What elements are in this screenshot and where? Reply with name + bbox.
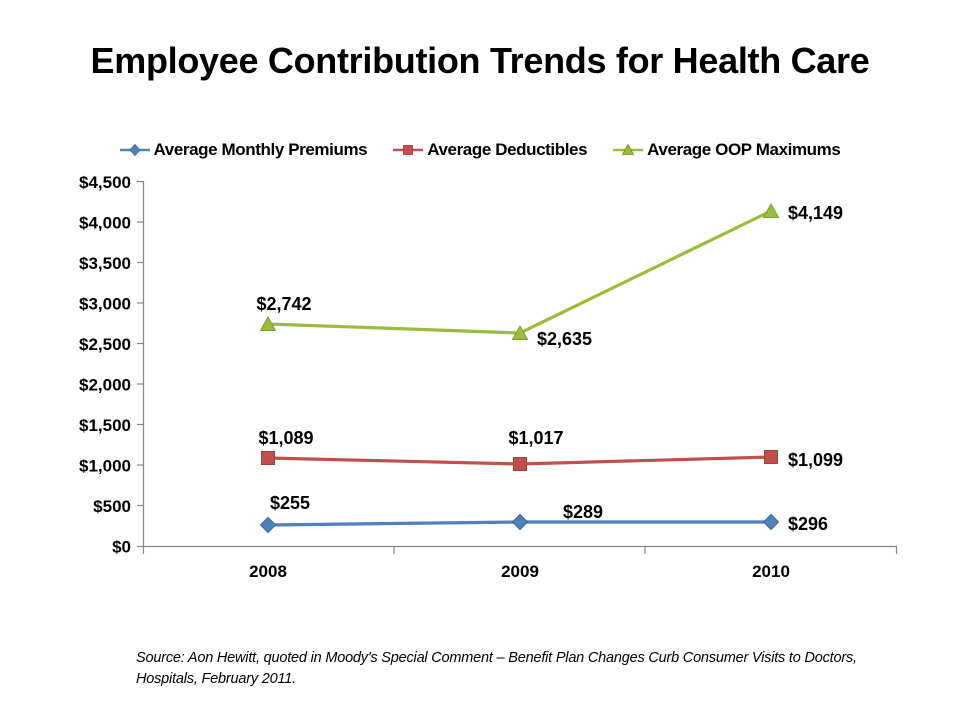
y-tick-label: $0: [112, 538, 131, 557]
x-tick-label: 2010: [752, 562, 790, 581]
data-label: $2,742: [256, 294, 311, 314]
source-note: Source: Aon Hewitt, quoted in Moody's Sp…: [136, 648, 896, 690]
y-tick-label: $1,000: [79, 457, 131, 476]
y-tick-label: $1,500: [79, 416, 131, 435]
data-point-marker[interactable]: [764, 204, 779, 218]
y-axis-labels: $4,500 $4,000 $3,500 $3,000 $2,500 $2,00…: [79, 173, 131, 557]
series-deductibles: $1,089 $1,017 $1,099: [258, 428, 843, 471]
series-oop-maximums: $2,742 $2,635 $4,149: [256, 203, 843, 349]
data-label: $4,149: [788, 203, 843, 223]
x-axis-ticks: [144, 547, 897, 555]
series-line: [268, 211, 771, 333]
data-point-marker[interactable]: [764, 515, 779, 530]
y-tick-label: $3,000: [79, 295, 131, 314]
data-point-marker[interactable]: [765, 451, 778, 464]
plot-area: $4,500 $4,000 $3,500 $3,000 $2,500 $2,00…: [0, 0, 960, 720]
data-point-marker[interactable]: [261, 518, 276, 533]
data-point-marker[interactable]: [514, 458, 527, 471]
x-tick-label: 2008: [249, 562, 287, 581]
data-label: $1,017: [508, 428, 563, 448]
y-tick-label: $4,500: [79, 173, 131, 192]
chart-container: Employee Contribution Trends for Health …: [0, 0, 960, 720]
y-tick-label: $500: [93, 497, 131, 516]
y-tick-label: $4,000: [79, 214, 131, 233]
x-axis-labels: 2008 2009 2010: [249, 562, 790, 581]
y-tick-label: $2,000: [79, 376, 131, 395]
series-monthly-premiums: $255 $289 $296: [261, 493, 829, 534]
data-label: $1,089: [258, 428, 313, 448]
y-tick-label: $2,500: [79, 335, 131, 354]
y-axis-ticks: [137, 182, 144, 547]
data-label: $296: [788, 514, 828, 534]
data-label: $255: [270, 493, 310, 513]
data-point-marker[interactable]: [262, 452, 275, 465]
data-point-marker[interactable]: [513, 515, 528, 530]
data-label: $2,635: [537, 329, 592, 349]
y-tick-label: $3,500: [79, 254, 131, 273]
data-label: $289: [563, 502, 603, 522]
data-label: $1,099: [788, 450, 843, 470]
x-tick-label: 2009: [501, 562, 539, 581]
